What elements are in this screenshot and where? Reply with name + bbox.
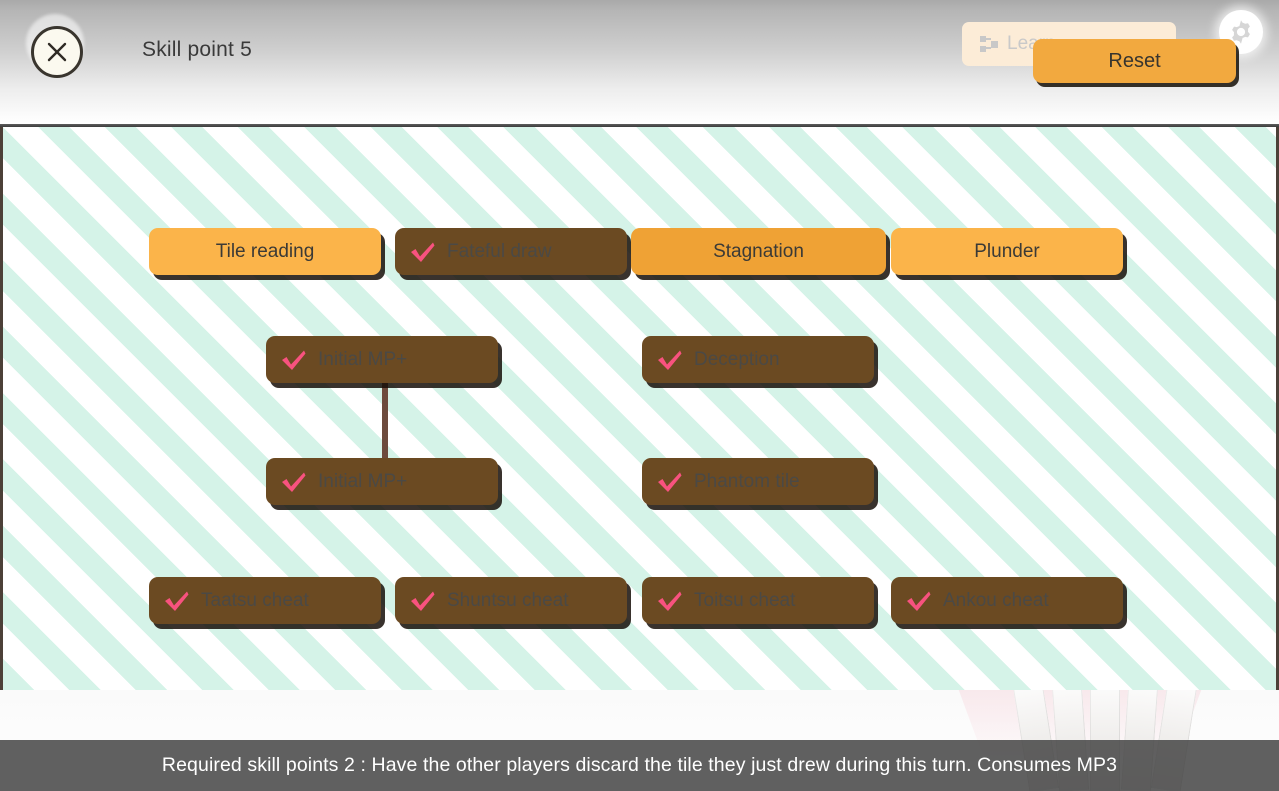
checkmark-icon	[656, 348, 684, 372]
skill-node-label: Fateful draw	[447, 241, 552, 263]
skill-node-stagnation[interactable]: Stagnation	[631, 228, 886, 275]
checkmark-icon	[280, 348, 308, 372]
skill-node-initial-mp[interactable]: Initial MP+	[266, 336, 498, 383]
skill-tree-panel[interactable]: Tile readingFateful drawStagnationPlunde…	[0, 127, 1279, 690]
skill-node-label: Plunder	[974, 241, 1040, 263]
skill-description-text: Required skill points 2 : Have the other…	[162, 754, 1117, 777]
close-x-icon	[44, 39, 70, 65]
skill-node-label: Phantom tile	[694, 471, 800, 493]
close-button[interactable]	[31, 26, 83, 78]
skill-description-bar: Required skill points 2 : Have the other…	[0, 740, 1279, 791]
skill-tree-icon	[980, 36, 998, 52]
header-bar: Skill point 5 Learn Reset	[0, 0, 1279, 127]
checkmark-icon	[905, 589, 933, 613]
checkmark-icon	[280, 470, 308, 494]
skill-node-label: Ankou cheat	[943, 590, 1049, 612]
skill-node-label: Tile reading	[216, 241, 315, 263]
skill-node-tile-reading[interactable]: Tile reading	[149, 228, 381, 275]
skill-node-label: Taatsu cheat	[201, 590, 309, 612]
page-title: Skill point 5	[142, 38, 252, 62]
skill-node-label: Initial MP+	[318, 471, 407, 493]
skill-node-label: Stagnation	[713, 241, 804, 263]
skill-node-label: Shuntsu cheat	[447, 590, 568, 612]
connector-initial-mp	[382, 376, 388, 462]
skill-node-initial-mp[interactable]: Initial MP+	[266, 458, 498, 505]
skill-node-plunder[interactable]: Plunder	[891, 228, 1123, 275]
skill-node-ankou-cheat[interactable]: Ankou cheat	[891, 577, 1123, 624]
skill-node-toitsu-cheat[interactable]: Toitsu cheat	[642, 577, 874, 624]
reset-button-label: Reset	[1108, 50, 1160, 73]
checkmark-icon	[656, 589, 684, 613]
checkmark-icon	[656, 470, 684, 494]
reset-button[interactable]: Reset	[1033, 39, 1236, 83]
skill-node-shuntsu-cheat[interactable]: Shuntsu cheat	[395, 577, 627, 624]
skill-node-label: Deception	[694, 349, 780, 371]
checkmark-icon	[409, 589, 437, 613]
skill-node-phantom-tile[interactable]: Phantom tile	[642, 458, 874, 505]
skill-node-label: Initial MP+	[318, 349, 407, 371]
checkmark-icon	[163, 589, 191, 613]
skill-node-fateful-draw[interactable]: Fateful draw	[395, 228, 627, 275]
skill-node-label: Toitsu cheat	[694, 590, 795, 612]
skill-node-deception[interactable]: Deception	[642, 336, 874, 383]
checkmark-icon	[409, 240, 437, 264]
skill-node-taatsu-cheat[interactable]: Taatsu cheat	[149, 577, 381, 624]
